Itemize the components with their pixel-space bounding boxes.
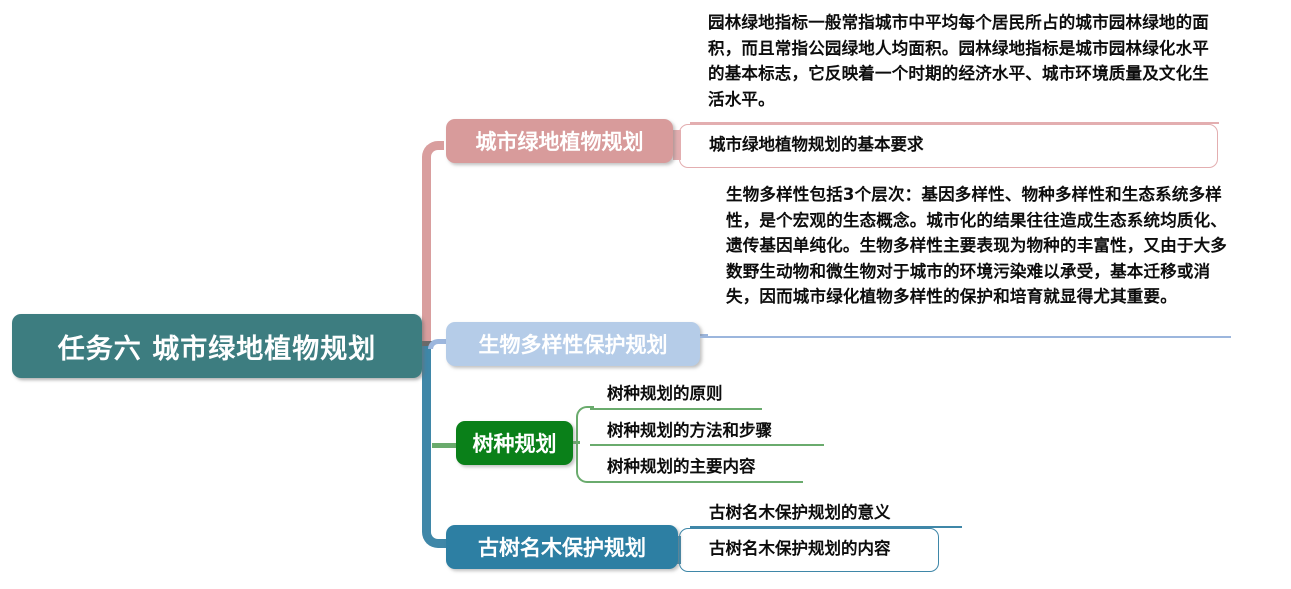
leaf-label-ancient-significance: 古树名木保护规划的意义: [709, 505, 891, 522]
leaf-label-tree-methods: 树种规划的方法和步骤: [607, 423, 772, 440]
mindmap-canvas: 任务六 城市绿地植物规划 城市绿地植物规划 园林绿地指标一般常指城市中平均每个居…: [0, 0, 1291, 589]
body-text-biodiversity: 生物多样性包括3个层次：基因多样性、物种多样性和生态系统多样性，是个宏观的生态概…: [726, 182, 1230, 310]
branch-node-label: 古树名木保护规划: [478, 532, 646, 562]
branch-node-tree-species[interactable]: 树种规划: [456, 421, 573, 465]
leaf-label-tree-contents: 树种规划的主要内容: [607, 459, 756, 476]
leaf-label-tree-principles: 树种规划的原则: [607, 386, 723, 403]
leaf-label-basic-requirements: 城市绿地植物规划的基本要求: [709, 137, 924, 154]
root-node[interactable]: 任务六 城市绿地植物规划: [12, 314, 422, 378]
root-node-label: 任务六 城市绿地植物规划: [58, 327, 376, 366]
leaf-underline-tree-methods: [590, 444, 824, 446]
connector-trunk-up: [422, 141, 444, 346]
divider-biodiversity: [700, 336, 1231, 338]
body-text-city-green-space: 园林绿地指标一般常指城市中平均每个居民所占的城市园林绿地的面积，而且常指公园绿地…: [708, 10, 1216, 112]
branch-node-label: 生物多样性保护规划: [479, 329, 668, 359]
branch-node-city-green-space[interactable]: 城市绿地植物规划: [446, 119, 673, 163]
branch-node-biodiversity[interactable]: 生物多样性保护规划: [446, 322, 700, 366]
branch-node-label: 城市绿地植物规划: [476, 126, 644, 156]
leaf-underline-tree-principles: [590, 408, 762, 410]
leaf-label-ancient-contents: 古树名木保护规划的内容: [709, 541, 891, 558]
leaf-underline-tree-contents: [590, 481, 803, 483]
branch-node-ancient-trees[interactable]: 古树名木保护规划: [446, 525, 678, 569]
branch-node-label: 树种规划: [473, 428, 557, 458]
